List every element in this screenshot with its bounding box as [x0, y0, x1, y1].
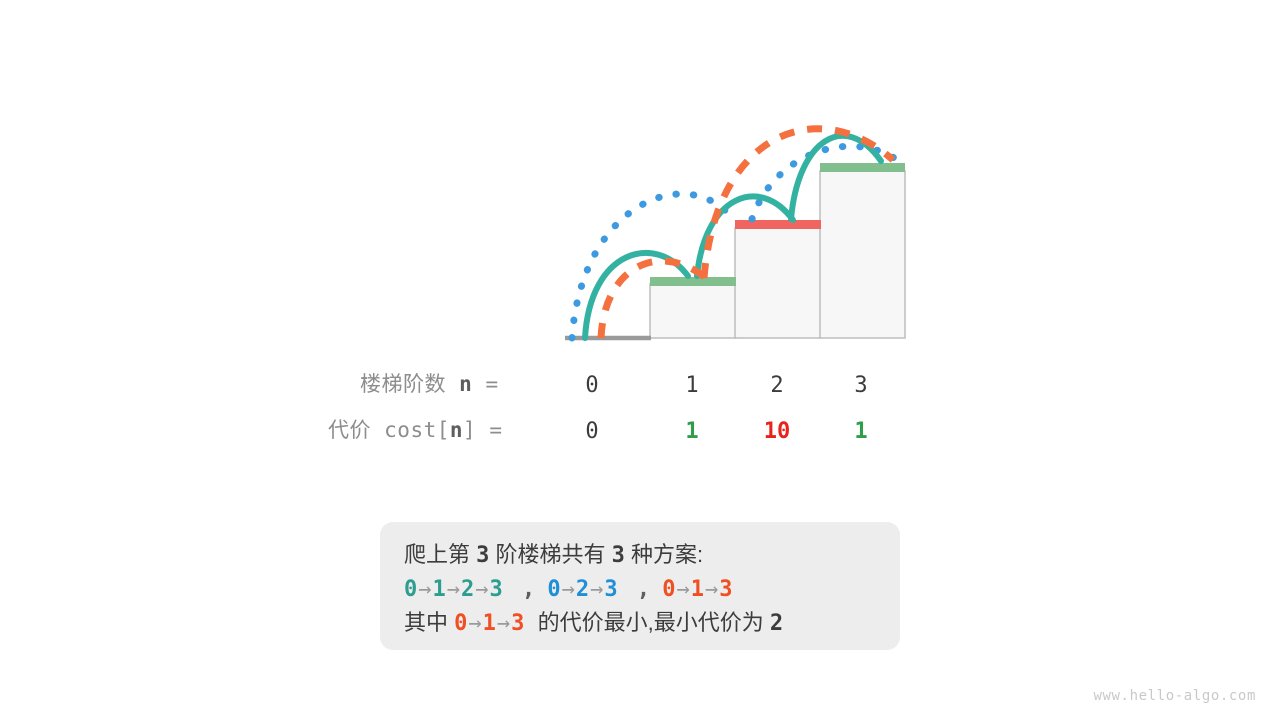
table-row-n: 楼梯阶数 n = 0 1 2 3 [0, 368, 1280, 402]
best-seq-arrow-1: → [496, 611, 511, 636]
row-label-n-var: n [459, 372, 472, 396]
best-seq-item-0: 0 [454, 611, 467, 636]
best-seq-item-1: 1 [483, 611, 496, 636]
seq1-arrow-2: → [474, 577, 489, 602]
caption-box: 爬上第 3 阶楼梯共有 3 种方案: 0→1→2→3 , 0→2→3 , 0→1… [380, 522, 900, 650]
caption-min-cost-value: 2 [770, 611, 783, 636]
cell-n-0: 0 [585, 373, 598, 398]
seq3-item-2: 3 [719, 577, 732, 602]
row-label-cost-cjk: 代价 [328, 419, 371, 442]
caption-line1-pre: 爬上第 [404, 542, 470, 567]
caption-line3-pre: 其中 [404, 610, 448, 635]
row-label-n-cjk: 楼梯阶数 [360, 373, 446, 396]
seq1-arrow-1: → [446, 577, 461, 602]
caption-line3-mid: 的代价最小,最小代价为 [538, 610, 764, 635]
step-2-body [735, 228, 821, 338]
seq2-arrow-1: → [589, 577, 604, 602]
row-label-cost-code-post: ] [463, 418, 476, 442]
cell-n-1: 1 [685, 373, 698, 398]
caption-sequence-2: 0→2→3 [547, 577, 631, 602]
caption-sequence-3: 0→1→3 [662, 577, 732, 602]
best-seq-arrow-0: → [467, 611, 482, 636]
step-3-top-green [820, 163, 905, 172]
step-2-top-red [735, 220, 821, 229]
seq3-arrow-1: → [704, 577, 719, 602]
seq1-item-0: 0 [404, 577, 417, 602]
seq3-arrow-0: → [676, 577, 691, 602]
seq1-item-2: 2 [461, 577, 474, 602]
seq1-item-1: 1 [433, 577, 446, 602]
step-1-top-green [650, 277, 736, 286]
caption-line-2: 0→1→2→3 , 0→2→3 , 0→1→3 [404, 572, 900, 606]
row-label-n: 楼梯阶数 n = [360, 368, 499, 398]
seq1-item-3: 3 [490, 577, 503, 602]
staircase-body [650, 171, 905, 338]
caption-line-1: 爬上第 3 阶楼梯共有 3 种方案: [404, 538, 900, 572]
watermark: www.hello-algo.com [1093, 688, 1256, 704]
caption-line1-ways: 3 [612, 543, 625, 568]
caption-separator-1: , [516, 577, 541, 602]
seq2-item-2: 3 [604, 577, 617, 602]
row-label-cost-equals: = [489, 418, 502, 442]
row-label-cost-code-pre: cost[ [384, 418, 450, 442]
caption-line-3: 其中 0→1→3 的代价最小,最小代价为 2 [404, 606, 900, 640]
row-label-cost: 代价 cost[n] = [328, 414, 503, 444]
caption-line1-count: 3 [476, 543, 489, 568]
row-label-n-equals: = [485, 372, 498, 396]
table-row-cost: 代价 cost[n] = 0 1 10 1 [0, 414, 1280, 448]
seq3-item-1: 1 [691, 577, 704, 602]
caption-line1-mid: 阶楼梯共有 [496, 542, 606, 567]
row-label-cost-var: n [450, 418, 463, 442]
caption-line1-post: 种方案: [631, 542, 703, 567]
best-seq-item-2: 3 [511, 611, 524, 636]
cell-n-2: 2 [770, 373, 783, 398]
step-1-body [650, 284, 736, 338]
caption-best-sequence: 0→1→3 [454, 611, 538, 636]
seq2-item-0: 0 [547, 577, 560, 602]
seq1-arrow-0: → [417, 577, 432, 602]
step-3-body [820, 171, 905, 338]
seq2-item-1: 2 [576, 577, 589, 602]
cell-cost-3: 1 [854, 419, 867, 444]
cell-cost-0: 0 [585, 419, 598, 444]
cell-n-3: 3 [854, 373, 867, 398]
cell-cost-1: 1 [685, 419, 698, 444]
seq3-item-0: 0 [662, 577, 675, 602]
seq2-arrow-0: → [561, 577, 576, 602]
caption-sequence-1: 0→1→2→3 [404, 577, 516, 602]
caption-separator-2: , [631, 577, 656, 602]
cell-cost-2: 10 [764, 419, 791, 444]
